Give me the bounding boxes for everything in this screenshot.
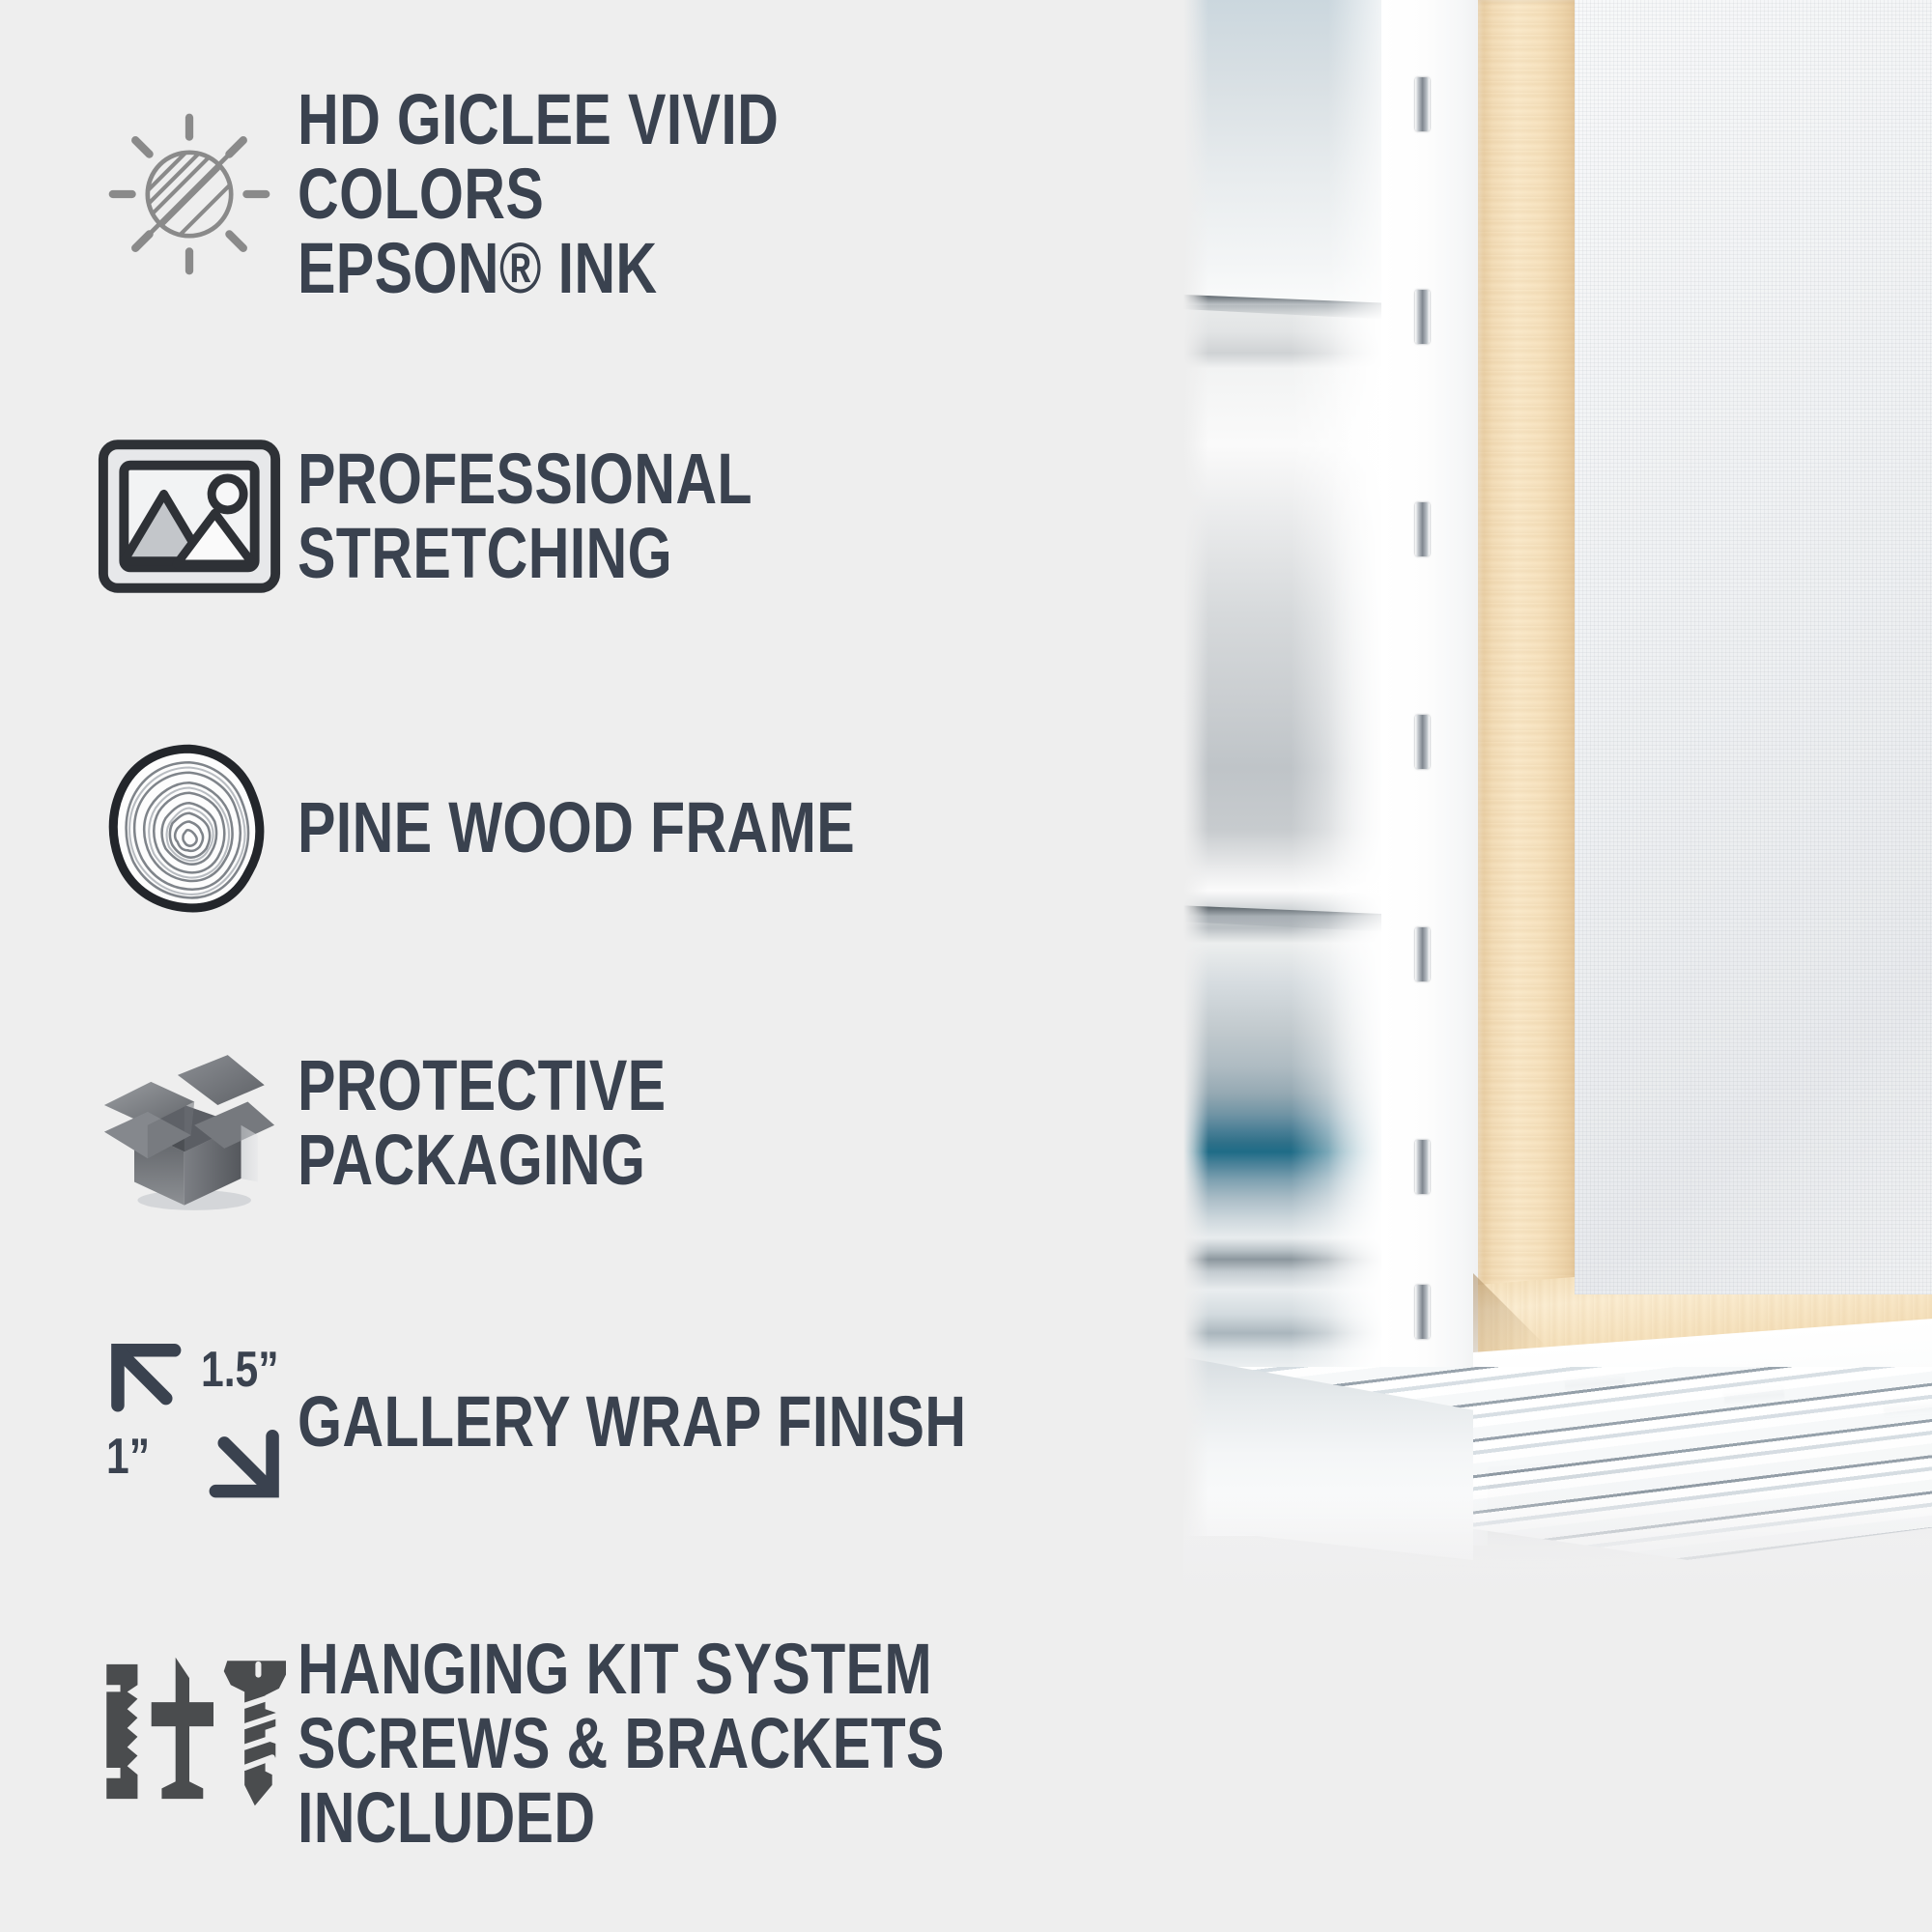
hardware-icon: [93, 1647, 286, 1840]
corner-arrows-icon: 1.5” 1”: [93, 1333, 298, 1512]
staple-icon: [1415, 290, 1430, 344]
feature-label-pine-wood: PINE WOOD FRAME: [298, 791, 855, 866]
feature-label-packaging: PROTECTIVE PACKAGING: [298, 1049, 1022, 1198]
sun-icon: [93, 107, 286, 281]
pine-stretcher-bar-vertical: [1478, 0, 1580, 1372]
open-box-icon: [93, 1032, 286, 1215]
feature-label-giclee: HD GICLEE VIVID COLORS EPSON® INK: [298, 83, 1022, 306]
depth-label-large: 1.5”: [201, 1341, 279, 1399]
feature-label-stretching: PROFESSIONAL STRETCHING: [298, 442, 1022, 591]
picture-frame-icon: [93, 437, 286, 596]
feature-label-gallery-wrap: GALLERY WRAP FINISH: [298, 1385, 966, 1460]
staple-icon: [1415, 1285, 1430, 1339]
staple-icon: [1415, 77, 1430, 131]
staple-icon: [1415, 502, 1430, 556]
staple-icon: [1415, 927, 1430, 981]
feature-label-hanging-kit: HANGING KIT SYSTEM SCREWS & BRACKETS INC…: [298, 1633, 1022, 1856]
feature-row-gallery-wrap: 1.5” 1” GALLERY WRAP FINISH: [93, 1333, 1134, 1512]
feature-row-hanging-kit: HANGING KIT SYSTEM SCREWS & BRACKETS INC…: [93, 1633, 1204, 1856]
tree-rings-icon: [93, 744, 286, 913]
feature-row-stretching: PROFESSIONAL STRETCHING: [93, 437, 1204, 596]
staple-icon: [1415, 715, 1430, 769]
depth-label-small: 1”: [106, 1428, 150, 1486]
feature-row-giclee: HD GICLEE VIVID COLORS EPSON® INK: [93, 83, 1204, 306]
canvas-back-fabric: [1575, 0, 1932, 1294]
infographic-root: HD GICLEE VIVID COLORS EPSON® INK PROFES…: [0, 0, 1932, 1932]
feature-row-packaging: PROTECTIVE PACKAGING: [93, 1032, 1204, 1215]
staple-icon: [1415, 1140, 1430, 1194]
canvas-back-corner-photo: [1183, 0, 1932, 1604]
canvas-fold-side: [1381, 0, 1488, 1546]
photo-bottom-fade: [1183, 1492, 1932, 1604]
feature-row-pine-wood: PINE WOOD FRAME: [93, 744, 994, 913]
feature-list: HD GICLEE VIVID COLORS EPSON® INK PROFES…: [93, 0, 1204, 1932]
